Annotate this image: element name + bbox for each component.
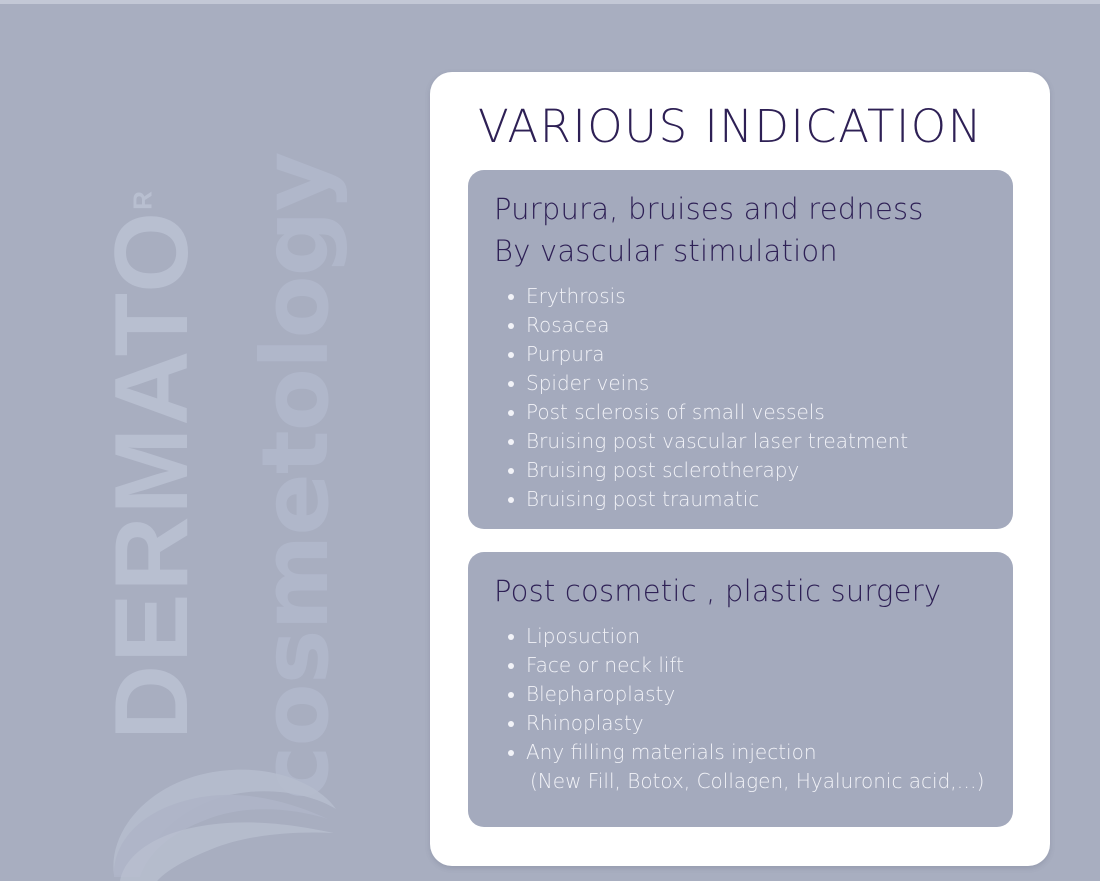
panel-vascular-heading: Purpura, bruises and redness By vascular… (494, 188, 987, 272)
list-item: Bruising post vascular laser treatment (508, 427, 987, 456)
slide-root: DERMATOR cosmetology VARIOUS INDICATION … (0, 0, 1100, 881)
list-item-label: Post sclerosis of small vessels (526, 400, 825, 424)
list-item-label: Rhinoplasty (526, 711, 644, 735)
list-item-label: Erythrosis (526, 284, 626, 308)
panel-post-surgery-indications: Post cosmetic , plastic surgery Liposuct… (468, 552, 1013, 827)
page-title: VARIOUS INDICATION (478, 100, 1028, 153)
panel-surgery-heading: Post cosmetic , plastic surgery (494, 570, 987, 612)
list-item: Bruising post sclerotherapy (508, 456, 987, 485)
panel-vascular-heading-line2: By vascular stimulation (494, 230, 987, 272)
list-item-label: Bruising post sclerotherapy (526, 458, 799, 482)
list-item: Blepharoplasty (508, 680, 987, 709)
list-item: Bruising post traumatic (508, 485, 987, 514)
brand-tagline-cosmetology: cosmetology (250, 152, 342, 800)
list-item: Any filling materials injection (New Fil… (508, 738, 987, 796)
list-item: Liposuction (508, 622, 987, 651)
top-edge-strip (0, 0, 1100, 4)
leaf-wave-logo-icon (104, 735, 384, 881)
panel-surgery-heading-line1: Post cosmetic , plastic surgery (494, 570, 987, 612)
list-item-label: Bruising post vascular laser treatment (526, 429, 908, 453)
content-card: VARIOUS INDICATION Purpura, bruises and … (430, 72, 1050, 866)
list-item: Rosacea (508, 311, 987, 340)
post-surgery-indication-list: Liposuction Face or neck lift Blepharopl… (494, 622, 987, 796)
list-item-label: Blepharoplasty (526, 682, 675, 706)
list-item: Erythrosis (508, 282, 987, 311)
brand-watermark: DERMATOR cosmetology (0, 0, 430, 881)
registered-trademark-mark: R (127, 191, 157, 210)
brand-name-text: DERMATO (94, 210, 210, 740)
list-item-label: Spider veins (526, 371, 649, 395)
list-item: Rhinoplasty (508, 709, 987, 738)
vascular-indication-list: Erythrosis Rosacea Purpura Spider veins … (494, 282, 987, 514)
panel-vascular-heading-line1: Purpura, bruises and redness (494, 188, 987, 230)
panel-vascular-indications: Purpura, bruises and redness By vascular… (468, 170, 1013, 529)
list-item: Post sclerosis of small vessels (508, 398, 987, 427)
list-item: Spider veins (508, 369, 987, 398)
list-item-sublabel: (New Fill, Botox, Collagen, Hyaluronic a… (526, 767, 987, 796)
list-item-label: Any filling materials injection (526, 740, 817, 764)
list-item-label: Face or neck lift (526, 653, 684, 677)
list-item-label: Bruising post traumatic (526, 487, 759, 511)
list-item-label: Rosacea (526, 313, 609, 337)
list-item: Purpura (508, 340, 987, 369)
brand-name-dermato: DERMATOR (100, 191, 204, 740)
list-item-label: Liposuction (526, 624, 640, 648)
list-item: Face or neck lift (508, 651, 987, 680)
list-item-label: Purpura (526, 342, 604, 366)
